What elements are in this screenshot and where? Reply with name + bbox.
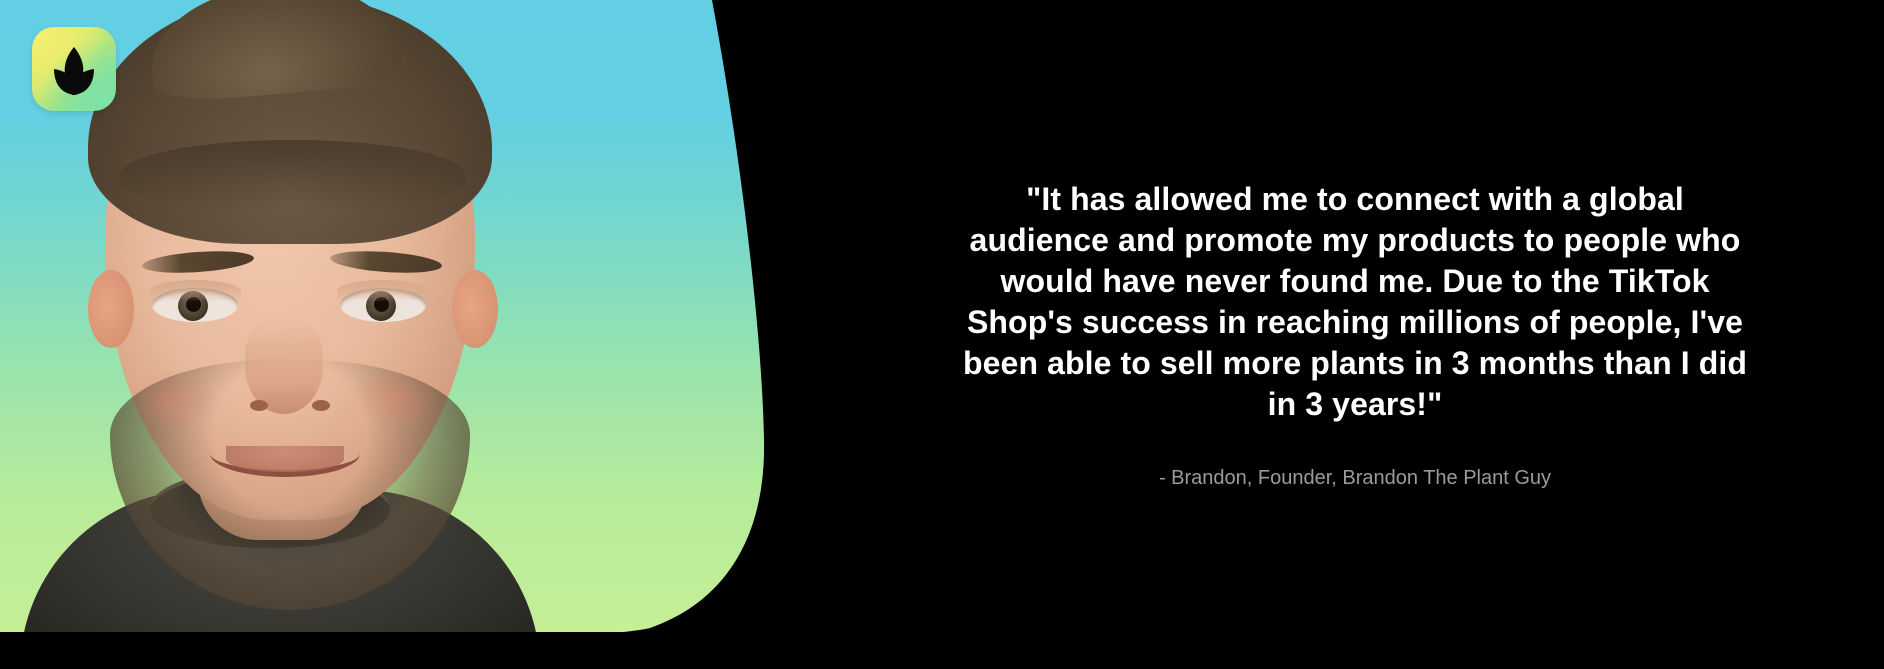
eyelid-left-shape [149, 280, 241, 302]
cheek-left-shape [128, 368, 218, 430]
brand-logo-badge[interactable] [32, 27, 116, 111]
testimonial-card: "It has allowed me to connect with a glo… [0, 0, 1884, 669]
bottom-black-bar [0, 632, 780, 669]
testimonial-quote: "It has allowed me to connect with a glo… [955, 179, 1755, 425]
quote-panel: "It has allowed me to connect with a glo… [900, 0, 1810, 669]
eyelid-right-shape [337, 280, 429, 302]
nostril-left-shape [250, 400, 268, 411]
nostril-right-shape [312, 400, 330, 411]
portrait-photo-panel [0, 0, 780, 632]
lower-lip-shape [226, 446, 344, 472]
ear-right-shape [452, 270, 498, 348]
testimonial-attribution: - Brandon, Founder, Brandon The Plant Gu… [1159, 465, 1551, 491]
plant-leaves-logo-icon [32, 27, 116, 111]
ear-left-shape [88, 270, 134, 348]
cheek-right-shape [352, 368, 442, 430]
hairline-shadow [120, 140, 465, 210]
